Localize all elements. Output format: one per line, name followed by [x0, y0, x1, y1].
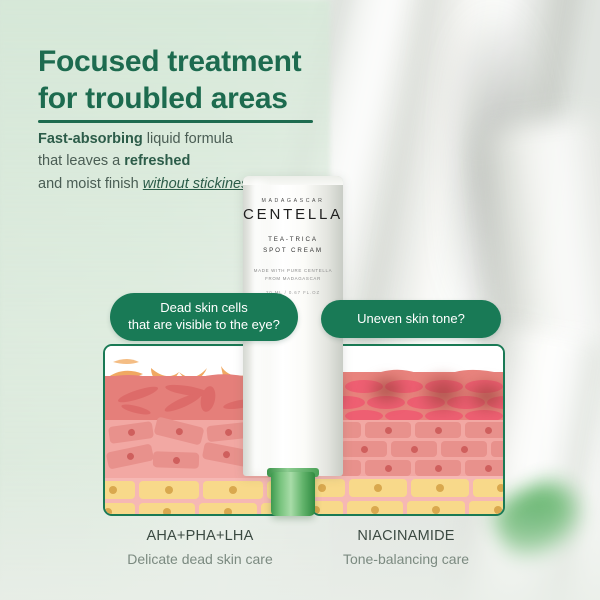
- label-product-name-line-1: TEA-TRICA: [243, 235, 343, 246]
- caption-right-title: NIACINAMIDE: [311, 528, 501, 544]
- callout-right-label: Uneven skin tone?: [357, 311, 465, 328]
- fat-cell: [139, 503, 195, 516]
- skin-cell: [106, 443, 155, 469]
- fat-cell: [473, 479, 505, 497]
- skin-cell: [365, 460, 411, 476]
- dark-spot: [463, 376, 505, 416]
- fat-cell: [103, 481, 135, 499]
- skin-cell: [415, 422, 461, 438]
- dark-spot: [365, 372, 409, 408]
- callout-left-line-1: Dead skin cells: [128, 300, 280, 317]
- label-brand: CENTELLA: [243, 206, 343, 223]
- subcopy-line-2: that leaves a refreshed: [38, 150, 338, 172]
- skin-cell: [108, 421, 154, 444]
- subcopy-line-1: Fast-absorbing liquid formula: [38, 128, 338, 150]
- caption-left: AHA+PHA+LHA Delicate dead skin care: [103, 528, 297, 567]
- skin-cell: [365, 422, 411, 438]
- subcopy-line-2-pre: that leaves a: [38, 153, 124, 169]
- callout-left: Dead skin cells that are visible to the …: [110, 293, 298, 341]
- caption-left-title: AHA+PHA+LHA: [103, 528, 297, 544]
- tube-cap: [271, 472, 315, 516]
- skin-cell: [465, 460, 505, 476]
- skin-cell: [465, 422, 505, 438]
- skin-cell: [441, 441, 487, 457]
- headline-line-2: for troubled areas: [38, 81, 418, 118]
- product-tube: MADAGASCAR CENTELLA TEA-TRICA SPOT CREAM…: [243, 176, 343, 521]
- skin-cell: [153, 451, 200, 469]
- caption-right-subtitle: Tone-balancing care: [311, 551, 501, 567]
- dark-spot: [417, 370, 469, 416]
- label-fine-print-line-1: MADE WITH PURE CENTELLA: [243, 267, 343, 275]
- fat-cell: [411, 479, 469, 497]
- label-product-name-line-2: SPOT CREAM: [243, 246, 343, 257]
- callout-left-line-2: that are visible to the eye?: [128, 317, 280, 334]
- headline-block: Focused treatment for troubled areas: [38, 44, 418, 123]
- caption-left-subtitle: Delicate dead skin care: [103, 551, 297, 567]
- headline-line-1: Focused treatment: [38, 44, 418, 81]
- label-fine-print: MADE WITH PURE CENTELLA FROM MADAGASCAR: [243, 267, 343, 283]
- fat-cell: [103, 503, 135, 516]
- fat-cell: [139, 481, 199, 499]
- skin-cell: [415, 460, 461, 476]
- label-brand-small: MADAGASCAR: [243, 198, 343, 204]
- label-product-name: TEA-TRICA SPOT CREAM: [243, 235, 343, 256]
- subcopy-line-3-pre: and moist finish: [38, 176, 143, 192]
- callout-right: Uneven skin tone?: [321, 300, 501, 338]
- fat-cell: [407, 501, 465, 516]
- subcopy-line-1-rest: liquid formula: [143, 131, 233, 147]
- skin-cell: [341, 441, 387, 457]
- headline-underline: [38, 120, 313, 123]
- fat-cell: [349, 479, 407, 497]
- infographic-canvas: Focused treatment for troubled areas Fas…: [0, 0, 600, 600]
- skin-cell: [154, 416, 205, 445]
- skin-cell: [491, 441, 505, 457]
- skin-cell: [391, 441, 437, 457]
- caption-right: NIACINAMIDE Tone-balancing care: [311, 528, 501, 567]
- fat-cell: [347, 501, 403, 516]
- subcopy-bold-refreshed: refreshed: [124, 153, 190, 169]
- tube-label: MADAGASCAR CENTELLA TEA-TRICA SPOT CREAM…: [243, 198, 343, 295]
- subcopy-bold-fast-absorbing: Fast-absorbing: [38, 131, 143, 147]
- fat-cell: [469, 501, 505, 516]
- label-fine-print-line-2: FROM MADAGASCAR: [243, 275, 343, 283]
